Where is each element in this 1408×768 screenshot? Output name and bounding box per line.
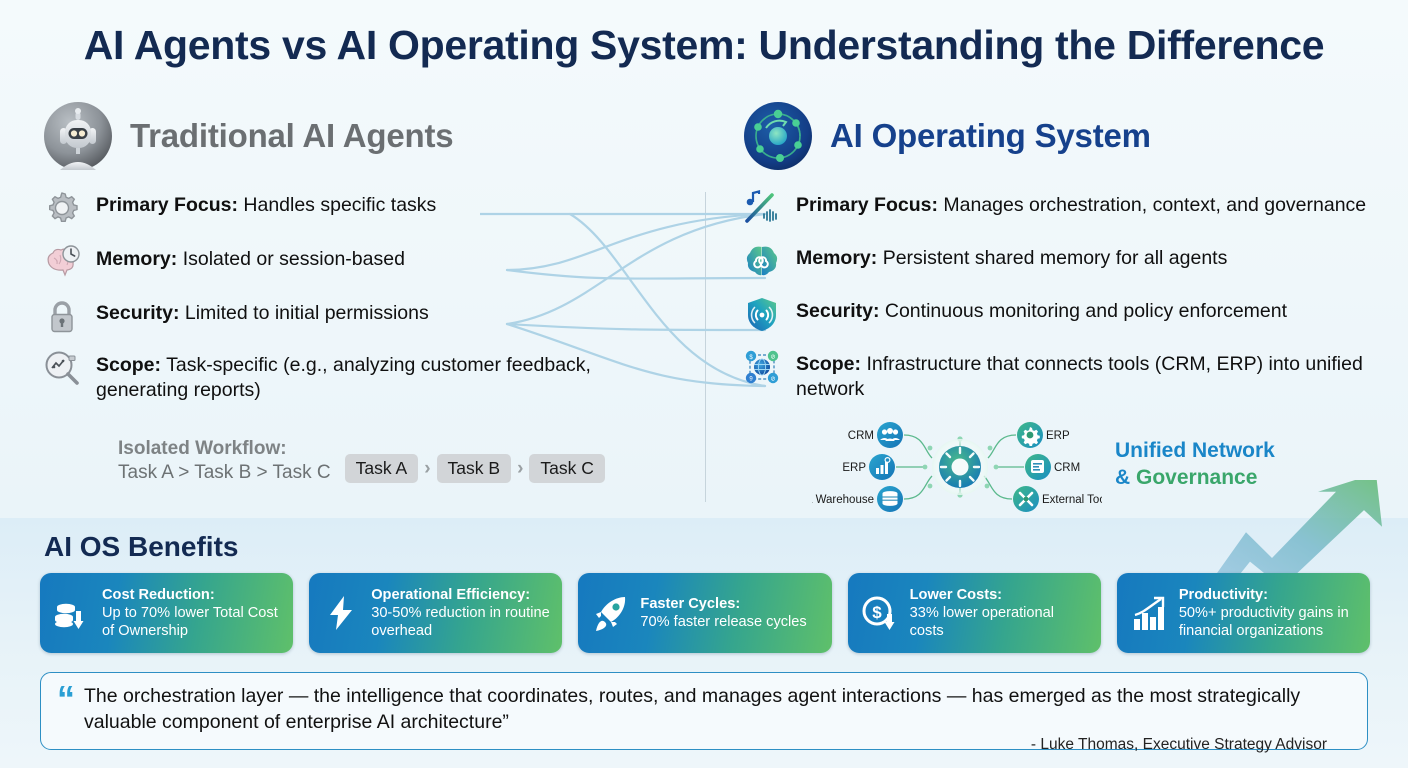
network-node-erp-top — [1017, 422, 1043, 448]
network-node-crm-mid — [1025, 454, 1051, 480]
benefit-label: Lower Costs: — [910, 586, 1089, 604]
chevron-right-icon: › — [424, 458, 430, 480]
unified-network-caption: Unified Network & Governance — [1115, 437, 1275, 491]
feature-label: Primary Focus: — [796, 194, 938, 216]
benefits-card-row: Cost Reduction: Up to 70% lower Total Co… — [40, 573, 1370, 653]
quote-mark-icon: “ — [57, 683, 75, 715]
svg-text:$: $ — [872, 603, 882, 622]
benefit-card-faster-cycles[interactable]: Faster Cycles: 70% faster release cycles — [578, 573, 831, 653]
feature-text: Memory: Isolated or session-based — [96, 246, 405, 272]
workflow-label: Isolated Workflow: — [118, 437, 331, 461]
feature-value: Task-specific (e.g., analyzing customer … — [96, 354, 591, 401]
brain-infinity-icon — [742, 241, 782, 281]
traditional-ai-agents-column: Traditional AI Agents Primary Focus: Han… — [42, 100, 682, 403]
robot-avatar-icon — [42, 100, 114, 172]
shield-signal-icon — [742, 294, 782, 334]
feature-label: Primary Focus: — [96, 194, 238, 216]
benefit-value: 50%+ productivity gains in financial org… — [1179, 605, 1349, 639]
feature-text: Security: Limited to initial permissions — [96, 300, 429, 326]
feature-label: Memory: — [96, 248, 177, 270]
network-node-crm-top — [877, 422, 903, 448]
feature-scope: $ ⊘ 9 ⊘ Scope: Infrastructure that conne… — [742, 351, 1390, 402]
benefit-card-productivity[interactable]: Productivity: 50%+ productivity gains in… — [1117, 573, 1370, 653]
quote-attribution: - Luke Thomas, Executive Strategy Adviso… — [57, 736, 1349, 754]
benefit-value: 33% lower operational costs — [910, 605, 1054, 639]
caption-line-2: & Governance — [1115, 464, 1275, 491]
feature-primary-focus: Primary Focus: Handles specific tasks — [42, 192, 682, 228]
benefit-text: Lower Costs: 33% lower operational costs — [910, 586, 1089, 640]
network-label-crm-top: CRM — [848, 430, 874, 442]
benefit-value: 30-50% reduction in routine overhead — [371, 605, 549, 639]
quote-box: “ The orchestration layer — the intellig… — [40, 672, 1368, 750]
benefit-text: Productivity: 50%+ productivity gains in… — [1179, 586, 1358, 640]
left-column-header: Traditional AI Agents — [42, 100, 682, 172]
feature-label: Memory: — [796, 247, 877, 269]
feature-value: Infrastructure that connects tools (CRM,… — [796, 353, 1363, 400]
right-column-title: AI Operating System — [830, 117, 1151, 155]
network-label-erp-mid: ERP — [842, 462, 866, 474]
feature-value: Manages orchestration, context, and gove… — [943, 194, 1366, 216]
benefit-value: 70% faster release cycles — [640, 614, 806, 630]
brain-clock-icon — [42, 242, 82, 282]
workflow-chips: Task A › Task B › Task C — [345, 454, 605, 485]
feature-label: Scope: — [796, 353, 861, 375]
right-column-header: AI Operating System — [742, 100, 1390, 172]
lightning-bolt-icon — [321, 593, 361, 633]
benefit-text: Operational Efficiency: 30-50% reduction… — [371, 586, 550, 640]
benefit-value: Up to 70% lower Total Cost of Ownership — [102, 605, 278, 639]
benefit-label: Operational Efficiency: — [371, 586, 550, 604]
rocket-icon — [590, 593, 630, 633]
svg-text:⊘: ⊘ — [770, 355, 775, 361]
feature-label: Scope: — [96, 354, 161, 376]
benefit-text: Faster Cycles: 70% faster release cycles — [640, 595, 806, 631]
feature-label: Security: — [796, 300, 879, 322]
dollar-down-arrow-icon: $ — [860, 593, 900, 633]
network-label-erp-top: ERP — [1046, 430, 1070, 442]
task-chip-c[interactable]: Task C — [529, 454, 604, 483]
caption-governance: Governance — [1136, 466, 1257, 489]
workflow-sequence: Task A > Task B > Task C — [118, 461, 331, 485]
isolated-workflow-block: Isolated Workflow: Task A > Task B > Tas… — [118, 437, 605, 485]
workflow-text: Isolated Workflow: Task A > Task B > Tas… — [118, 437, 331, 485]
feature-security: Security: Continuous monitoring and poli… — [742, 298, 1390, 334]
ai-operating-system-column: AI Operating System Primary Focus: Manag… — [742, 100, 1390, 402]
benefits-section-title: AI OS Benefits — [44, 531, 238, 563]
magnifier-chart-icon — [42, 348, 82, 388]
feature-value: Isolated or session-based — [183, 248, 405, 270]
globe-network-icon: $ ⊘ 9 ⊘ — [742, 347, 782, 387]
benefit-label: Faster Cycles: — [640, 595, 806, 613]
feature-security: Security: Limited to initial permissions — [42, 300, 682, 336]
feature-value: Continuous monitoring and policy enforce… — [885, 300, 1287, 322]
caption-amp: & — [1115, 466, 1136, 489]
lock-icon — [42, 296, 82, 336]
caption-line-1: Unified Network — [1115, 437, 1275, 464]
feature-memory: Memory: Persistent shared memory for all… — [742, 245, 1390, 281]
network-label-crm-mid: CRM — [1054, 462, 1080, 474]
network-label-data-warehouse: Data Warehouse — [812, 494, 874, 506]
bar-chart-growth-icon — [1129, 593, 1169, 633]
task-chip-a[interactable]: Task A — [345, 454, 419, 483]
feature-text: Primary Focus: Handles specific tasks — [96, 192, 436, 218]
feature-value: Handles specific tasks — [243, 194, 436, 216]
benefit-label: Cost Reduction: — [102, 586, 281, 604]
chevron-right-icon: › — [517, 458, 523, 480]
task-chip-b[interactable]: Task B — [437, 454, 512, 483]
benefit-label: Productivity: — [1179, 586, 1358, 604]
feature-value: Limited to initial permissions — [185, 302, 429, 324]
feature-primary-focus: Primary Focus: Manages orchestration, co… — [742, 192, 1390, 228]
benefit-text: Cost Reduction: Up to 70% lower Total Co… — [102, 586, 281, 640]
svg-text:⊘: ⊘ — [770, 377, 775, 383]
network-node-erp-mid — [869, 454, 895, 480]
feature-memory: Memory: Isolated or session-based — [42, 246, 682, 282]
feature-text: Security: Continuous monitoring and poli… — [796, 298, 1287, 324]
benefit-card-lower-costs[interactable]: $ Lower Costs: 33% lower operational cos… — [848, 573, 1101, 653]
feature-scope: Scope: Task-specific (e.g., analyzing cu… — [42, 352, 682, 403]
benefit-card-operational-efficiency[interactable]: Operational Efficiency: 30-50% reduction… — [309, 573, 562, 653]
benefit-card-cost-reduction[interactable]: Cost Reduction: Up to 70% lower Total Co… — [40, 573, 293, 653]
feature-text: Primary Focus: Manages orchestration, co… — [796, 192, 1366, 218]
network-label-external-tools: External Tools — [1042, 494, 1102, 506]
feature-text: Scope: Task-specific (e.g., analyzing cu… — [96, 352, 682, 403]
feature-text: Scope: Infrastructure that connects tool… — [796, 351, 1390, 402]
left-column-title: Traditional AI Agents — [130, 117, 453, 155]
network-node-external-tools — [1013, 486, 1039, 512]
ai-os-network-logo-icon — [742, 100, 814, 172]
unified-network-diagram: CRM ERP ERP CRM Data Warehouse External … — [812, 418, 1102, 516]
feature-text: Memory: Persistent shared memory for all… — [796, 245, 1227, 271]
column-divider — [705, 192, 706, 502]
coins-down-arrow-icon — [52, 593, 92, 633]
quote-text: The orchestration layer — the intelligen… — [57, 683, 1349, 735]
network-node-data-warehouse — [877, 486, 903, 512]
page-title: AI Agents vs AI Operating System: Unders… — [0, 22, 1408, 69]
conductor-baton-icon — [742, 188, 782, 228]
feature-label: Security: — [96, 302, 179, 324]
feature-value: Persistent shared memory for all agents — [883, 247, 1228, 269]
gear-icon — [42, 188, 82, 228]
